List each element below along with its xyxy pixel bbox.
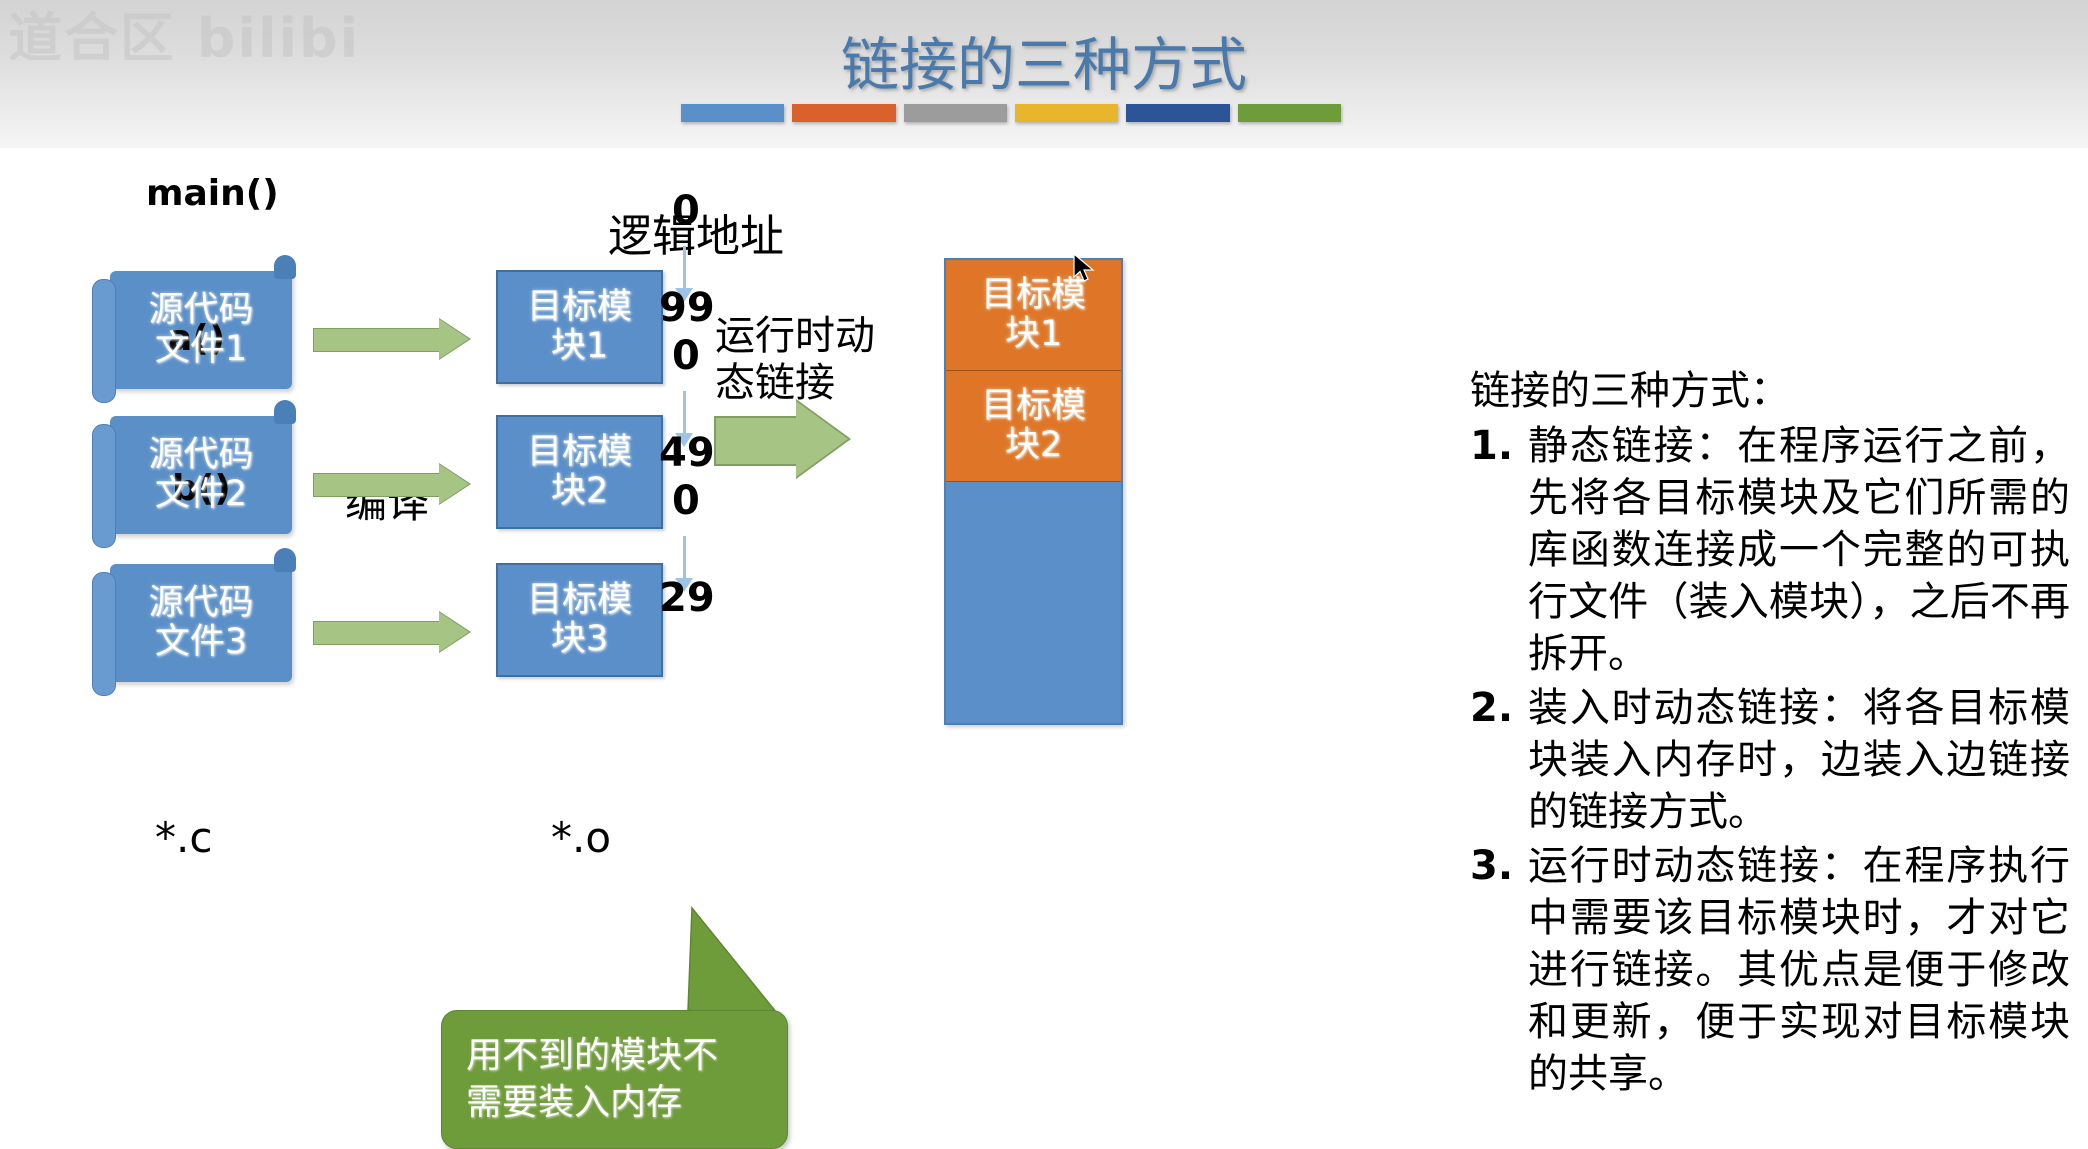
callout-line1: 用不到的模块不 bbox=[466, 1033, 766, 1080]
explanation-item-1-text: 静态链接：在程序运行之前，先将各目标模块及它们所需的库函数连接成一个完整的可执行… bbox=[1528, 420, 2070, 680]
title-bar-5 bbox=[1126, 104, 1229, 122]
object-module-3-line1: 目标模 bbox=[527, 581, 632, 620]
source-file-3-line1: 源代码 bbox=[148, 584, 253, 623]
slide-canvas: 逻辑地址 内存 main() 源代码 文件1 目标模 块1 0 99 a() 源… bbox=[0, 148, 2088, 1039]
object-extension-label: *.o bbox=[551, 813, 611, 863]
object-module-1-line1: 目标模 bbox=[527, 288, 632, 327]
object-module-1-line2: 块1 bbox=[551, 327, 608, 366]
object-module-3-addr-end: 29 bbox=[659, 575, 715, 621]
source-file-2-line1: 源代码 bbox=[148, 436, 253, 475]
source-file-3-line2: 文件3 bbox=[155, 623, 247, 662]
object-module-3-line2: 块3 bbox=[551, 620, 608, 659]
object-module-2-line2: 块2 bbox=[551, 472, 608, 511]
title-bar-6 bbox=[1238, 104, 1341, 122]
explanation-item-3: 3. 运行时动态链接：在程序执行中需要该目标模块时，才对它进行链接。其优点是便于… bbox=[1470, 840, 2070, 1100]
title-bar-3 bbox=[904, 104, 1007, 122]
memory-segment-1-line2: 块1 bbox=[1005, 315, 1062, 354]
object-module-2-addr-end: 49 bbox=[659, 430, 715, 476]
callout-line2: 需要装入内存 bbox=[466, 1080, 766, 1127]
source-file-1: 源代码 文件1 bbox=[110, 271, 292, 389]
slide-header-band: 道合区 bilibili 链接的三种方式 bbox=[0, 0, 2088, 148]
memory-segment-2-line1: 目标模 bbox=[981, 387, 1086, 426]
memory-segment-2-line2: 块2 bbox=[1005, 426, 1062, 465]
object-module-3: 目标模 块3 bbox=[496, 563, 663, 677]
object-module-1: 目标模 块1 bbox=[496, 270, 663, 384]
explanation-item-3-number: 3. bbox=[1470, 840, 1528, 892]
source-file-3: 源代码 文件3 bbox=[110, 564, 292, 682]
object-module-1-label: 目标模 块1 bbox=[498, 272, 661, 382]
source-extension-label: *.c bbox=[155, 813, 212, 863]
memory-column: 目标模 块1 目标模 块2 bbox=[944, 258, 1123, 725]
object-module-1-addr-end: 99 bbox=[659, 285, 715, 331]
object-module-3-addr-arrow bbox=[683, 536, 686, 580]
object-module-2-line1: 目标模 bbox=[527, 433, 632, 472]
source-file-2-label: 源代码 文件2 bbox=[110, 416, 292, 534]
callout-unused-modules: 用不到的模块不 需要装入内存 bbox=[441, 1010, 788, 1149]
title-bar-4 bbox=[1015, 104, 1118, 122]
title-bar-2 bbox=[792, 104, 895, 122]
explanation-heading: 链接的三种方式： bbox=[1470, 358, 2070, 416]
explanation-panel: 链接的三种方式： 1. 静态链接：在程序运行之前，先将各目标模块及它们所需的库函… bbox=[1470, 358, 2070, 1100]
explanation-item-3-text: 运行时动态链接：在程序执行中需要该目标模块时，才对它进行链接。其优点是便于修改和… bbox=[1528, 840, 2070, 1100]
function-label-main: main() bbox=[146, 173, 279, 214]
object-module-2-addr-start: 0 bbox=[672, 333, 700, 379]
explanation-item-2-number: 2. bbox=[1470, 682, 1528, 734]
explanation-item-1-number: 1. bbox=[1470, 420, 1528, 472]
title-bar-1 bbox=[681, 104, 784, 122]
callout-text: 用不到的模块不 需要装入内存 bbox=[466, 1033, 766, 1127]
memory-free-space bbox=[946, 482, 1121, 719]
explanation-item-2: 2. 装入时动态链接：将各目标模块装入内存时，边装入边链接的链接方式。 bbox=[1470, 682, 2070, 838]
runtime-dynamic-link-label: 运行时动态链接 bbox=[715, 313, 900, 407]
runtime-dynamic-link-text: 运行时动态链接 bbox=[715, 313, 875, 406]
object-module-2: 目标模 块2 bbox=[496, 415, 663, 529]
source-file-1-label: 源代码 文件1 bbox=[110, 271, 292, 389]
source-file-1-line1: 源代码 bbox=[148, 291, 253, 330]
object-module-3-addr-start: 0 bbox=[672, 478, 700, 524]
explanation-item-1: 1. 静态链接：在程序运行之前，先将各目标模块及它们所需的库函数连接成一个完整的… bbox=[1470, 420, 2070, 680]
memory-segment-1-line1: 目标模 bbox=[981, 276, 1086, 315]
explanation-item-2-text: 装入时动态链接：将各目标模块装入内存时，边装入边链接的链接方式。 bbox=[1528, 682, 2070, 838]
mouse-cursor-icon bbox=[1073, 253, 1099, 287]
object-module-3-label: 目标模 块3 bbox=[498, 565, 661, 675]
object-module-2-addr-arrow bbox=[683, 391, 686, 435]
source-file-3-label: 源代码 文件3 bbox=[110, 564, 292, 682]
object-module-1-addr-start: 0 bbox=[672, 188, 700, 234]
object-module-1-addr-arrow bbox=[683, 246, 686, 290]
slide-title: 链接的三种方式 bbox=[0, 18, 2088, 102]
memory-segment-2: 目标模 块2 bbox=[946, 371, 1121, 482]
source-file-2-line2: 文件2 bbox=[155, 475, 247, 514]
title-decoration-bars bbox=[681, 104, 1341, 122]
source-file-2: 源代码 文件2 bbox=[110, 416, 292, 534]
object-module-2-label: 目标模 块2 bbox=[498, 417, 661, 527]
source-file-1-line2: 文件1 bbox=[155, 330, 247, 369]
